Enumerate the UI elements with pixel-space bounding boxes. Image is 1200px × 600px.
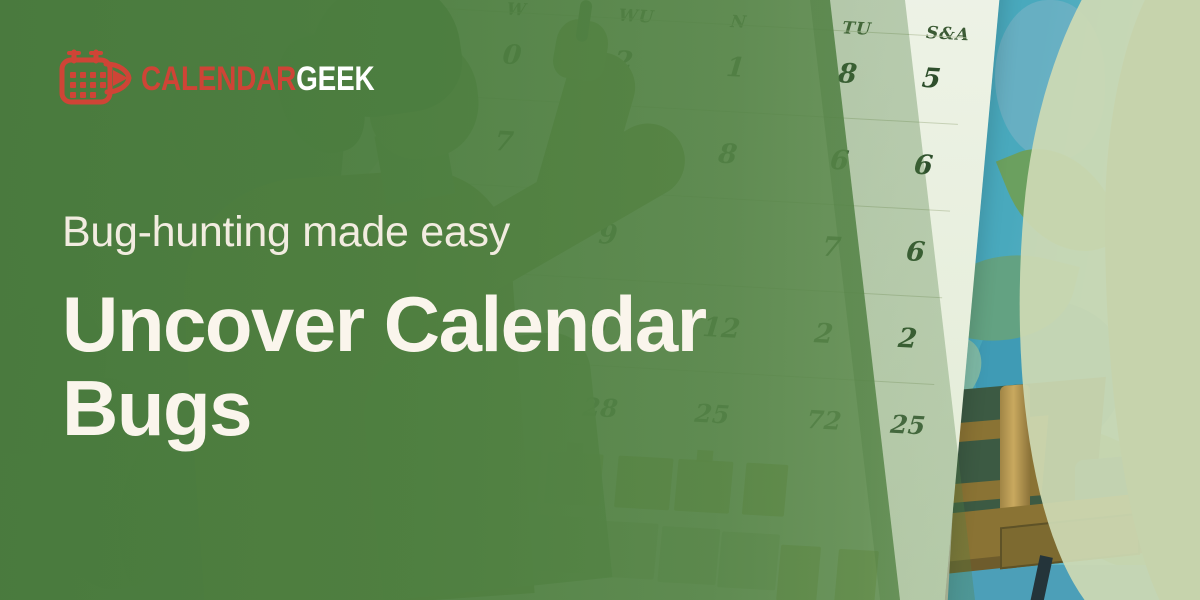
- brand-logo[interactable]: CALENDARGEEK: [58, 48, 426, 110]
- brand-name-secondary: GEEK: [296, 60, 374, 98]
- brand-name-primary: CALENDAR: [141, 60, 296, 98]
- brand-name: CALENDARGEEK: [141, 62, 374, 96]
- banner-content: CALENDARGEEK Bug-hunting made easy Uncov…: [0, 0, 1200, 600]
- banner-headline: Uncover Calendar Bugs: [62, 282, 822, 450]
- banner-subtitle: Bug-hunting made easy: [62, 208, 510, 257]
- calendar-arrow-icon: [58, 48, 132, 110]
- promo-banner: NWWUNTUS&A102185679866197615121222124282…: [0, 0, 1200, 600]
